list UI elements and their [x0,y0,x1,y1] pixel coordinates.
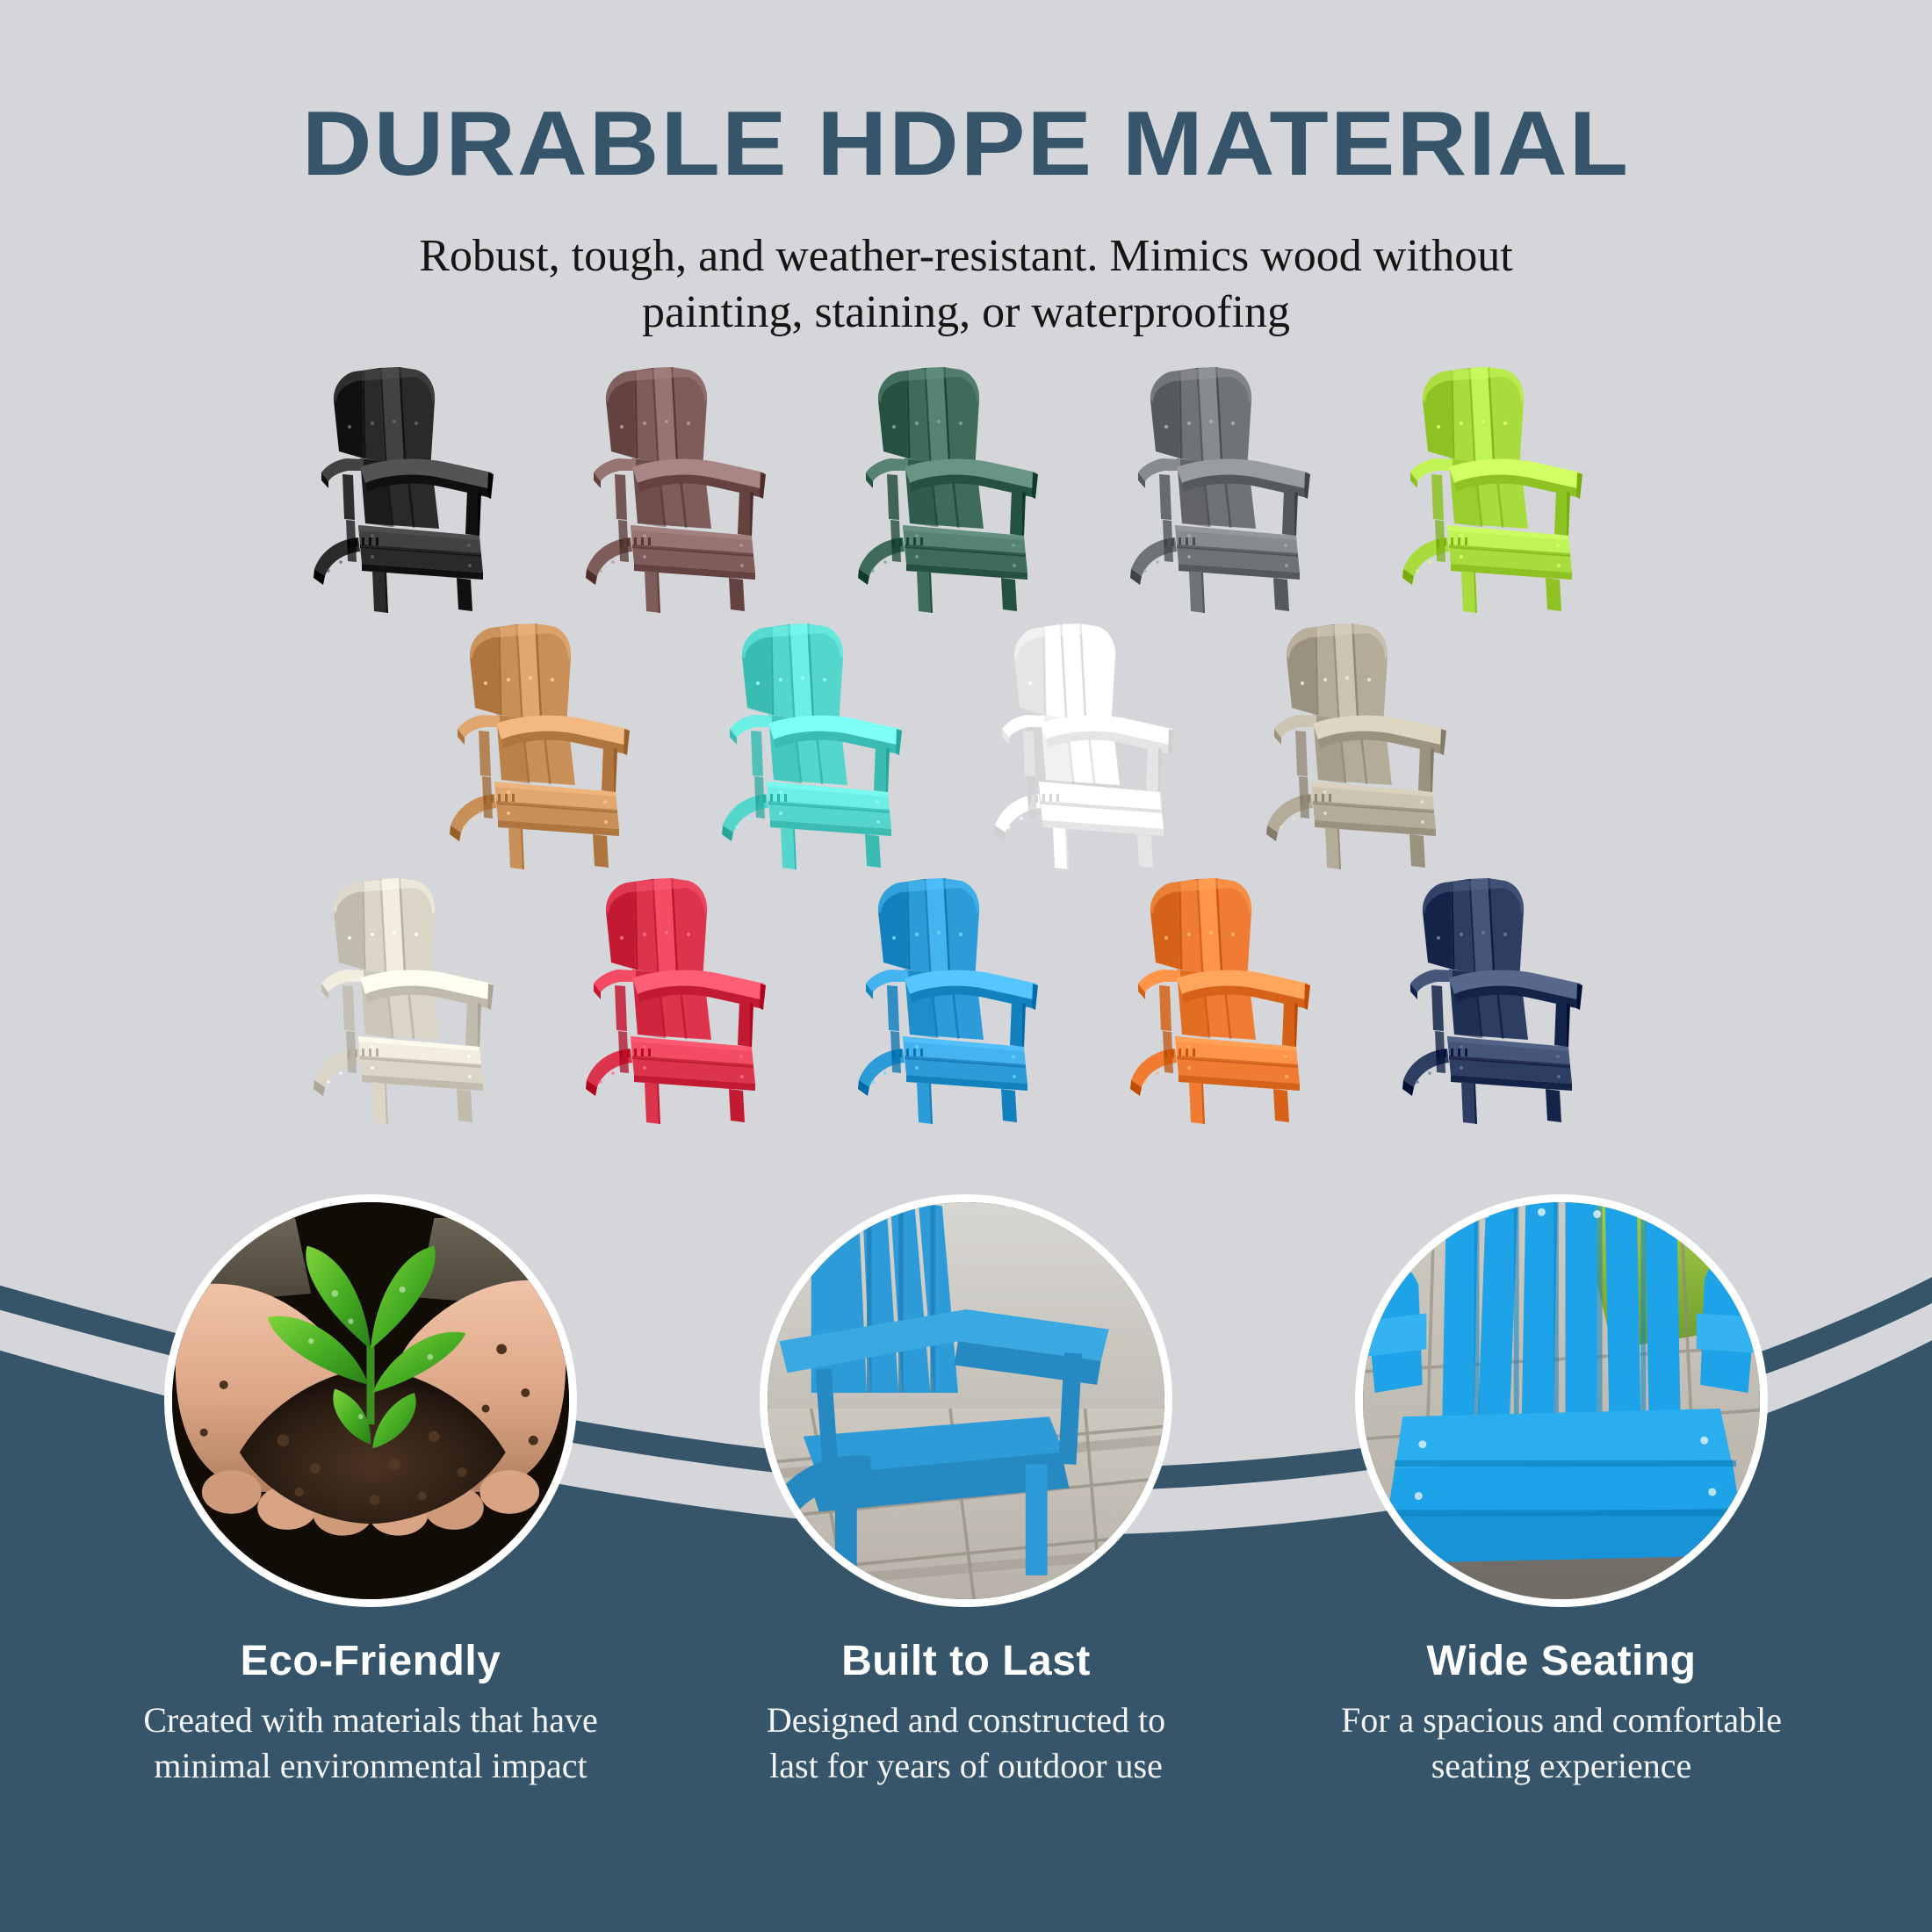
subtitle-line-2: painting, staining, or waterproofing [0,285,1932,341]
chair-black[interactable] [307,360,536,615]
chair-swatch-gray[interactable] [1102,351,1374,615]
header-block: DURABLE HDPE MATERIAL Robust, tough, and… [0,0,1932,342]
chair-swatch-red[interactable] [558,862,830,1126]
chair-weathered-wood[interactable] [1260,616,1489,871]
feature-desc-line-2: minimal environmental impact [98,1743,643,1789]
chair-blue[interactable] [852,871,1080,1126]
feature-callouts: Eco-Friendly Created with materials that… [0,1194,1932,1932]
chair-row-3 [0,862,1932,1126]
feature-desc-line-1: For a spacious and comfortable [1289,1698,1834,1743]
chair-swatch-turquoise[interactable] [694,608,966,871]
chair-swatch-teak[interactable] [422,608,694,871]
chair-teak[interactable] [443,616,672,871]
chair-swatch-lime-green[interactable] [1374,351,1647,615]
chair-swatch-orange[interactable] [1102,862,1374,1126]
feature-description: For a spacious and comfortable seating e… [1289,1698,1834,1789]
chair-swatch-black[interactable] [285,351,558,615]
chair-dark-green[interactable] [852,360,1080,615]
chair-swatch-dark-green[interactable] [830,351,1102,615]
blue-chair-wide-seat-front-view-icon [1363,1202,1760,1599]
chair-row-1 [0,351,1932,615]
chair-navy-blue[interactable] [1396,871,1625,1126]
page-title: DURABLE HDPE MATERIAL [0,98,1932,190]
chair-color-grid [0,351,1932,1126]
chair-gray[interactable] [1124,360,1352,615]
chair-brown[interactable] [580,360,808,615]
chair-red[interactable] [580,871,808,1126]
feature-desc-line-2: seating experience [1289,1743,1834,1789]
feature-title: Built to Last [694,1637,1238,1685]
blue-adirondack-chair-on-patio-icon [768,1202,1164,1599]
feature-title: Eco-Friendly [98,1637,643,1685]
chair-white[interactable] [988,616,1216,871]
chair-swatch-weathered-wood[interactable] [1238,608,1510,871]
feature-desc-line-2: last for years of outdoor use [694,1743,1238,1789]
feature-desc-line-1: Designed and constructed to [694,1698,1238,1743]
chair-orange[interactable] [1124,871,1352,1126]
feature-wide-seating: Wide Seating For a spacious and comforta… [1289,1194,1834,1789]
feature-image-wide-seating [1355,1194,1768,1607]
feature-title: Wide Seating [1289,1637,1834,1685]
feature-image-eco-friendly [164,1194,577,1607]
chair-lime-green[interactable] [1396,360,1625,615]
feature-image-built-to-last [760,1194,1172,1607]
chair-swatch-white[interactable] [966,608,1238,871]
chair-swatch-ivory[interactable] [285,862,558,1126]
feature-eco-friendly: Eco-Friendly Created with materials that… [98,1194,643,1789]
feature-desc-line-1: Created with materials that have [98,1698,643,1743]
page-subtitle: Robust, tough, and weather-resistant. Mi… [0,228,1932,342]
feature-description: Created with materials that have minimal… [98,1698,643,1789]
subtitle-line-1: Robust, tough, and weather-resistant. Mi… [0,228,1932,285]
chair-swatch-brown[interactable] [558,351,830,615]
feature-description: Designed and constructed to last for yea… [694,1698,1238,1789]
hands-holding-soil-and-seedling-icon [172,1202,569,1599]
feature-built-to-last: Built to Last Designed and constructed t… [694,1194,1238,1789]
chair-swatch-blue[interactable] [830,862,1102,1126]
infographic-canvas: DURABLE HDPE MATERIAL Robust, tough, and… [0,0,1932,1932]
chair-swatch-navy-blue[interactable] [1374,862,1647,1126]
chair-ivory[interactable] [307,871,536,1126]
chair-turquoise[interactable] [716,616,944,871]
chair-row-2 [0,608,1932,871]
